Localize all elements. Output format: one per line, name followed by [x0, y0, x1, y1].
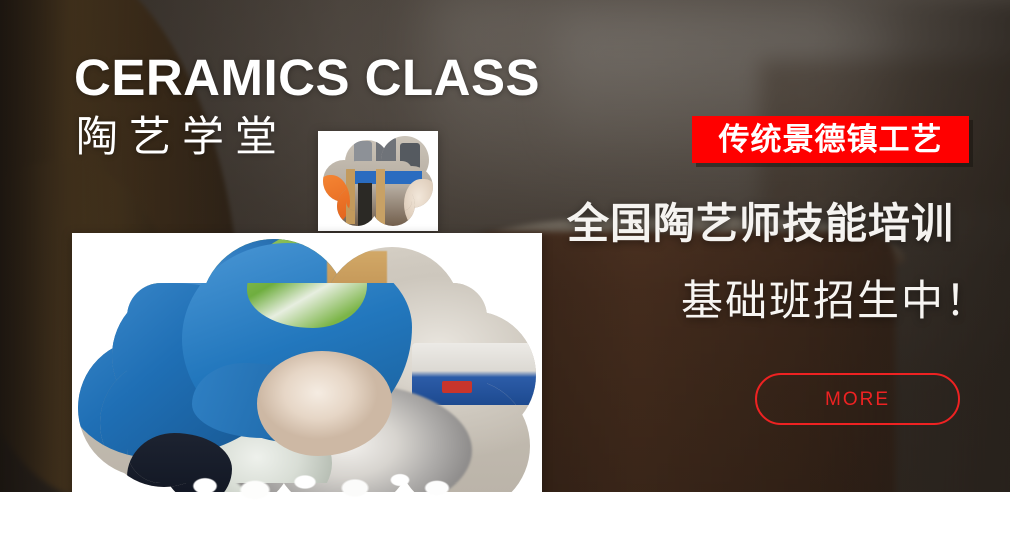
headline-text: 全国陶艺师技能培训: [567, 203, 954, 245]
cloud-photo-large: [72, 233, 542, 518]
more-button[interactable]: MORE: [755, 373, 960, 425]
more-button-label: MORE: [825, 390, 890, 409]
page-title-english: CERAMICS CLASS: [74, 52, 540, 103]
page-title-chinese: 陶艺学堂: [76, 116, 288, 158]
ceramics-class-banner: CERAMICS CLASS 陶艺学堂: [0, 0, 1010, 538]
cloud-photo-small: [318, 131, 438, 231]
cloud-big-image: [72, 233, 542, 518]
badge-label: 传统景德镇工艺: [719, 124, 943, 155]
bottom-white-strip: [0, 492, 1010, 538]
subheadline-text: 基础班招生中！: [681, 280, 989, 322]
cloud-small-image: [318, 131, 438, 231]
status-badge: 传统景德镇工艺: [692, 116, 969, 163]
